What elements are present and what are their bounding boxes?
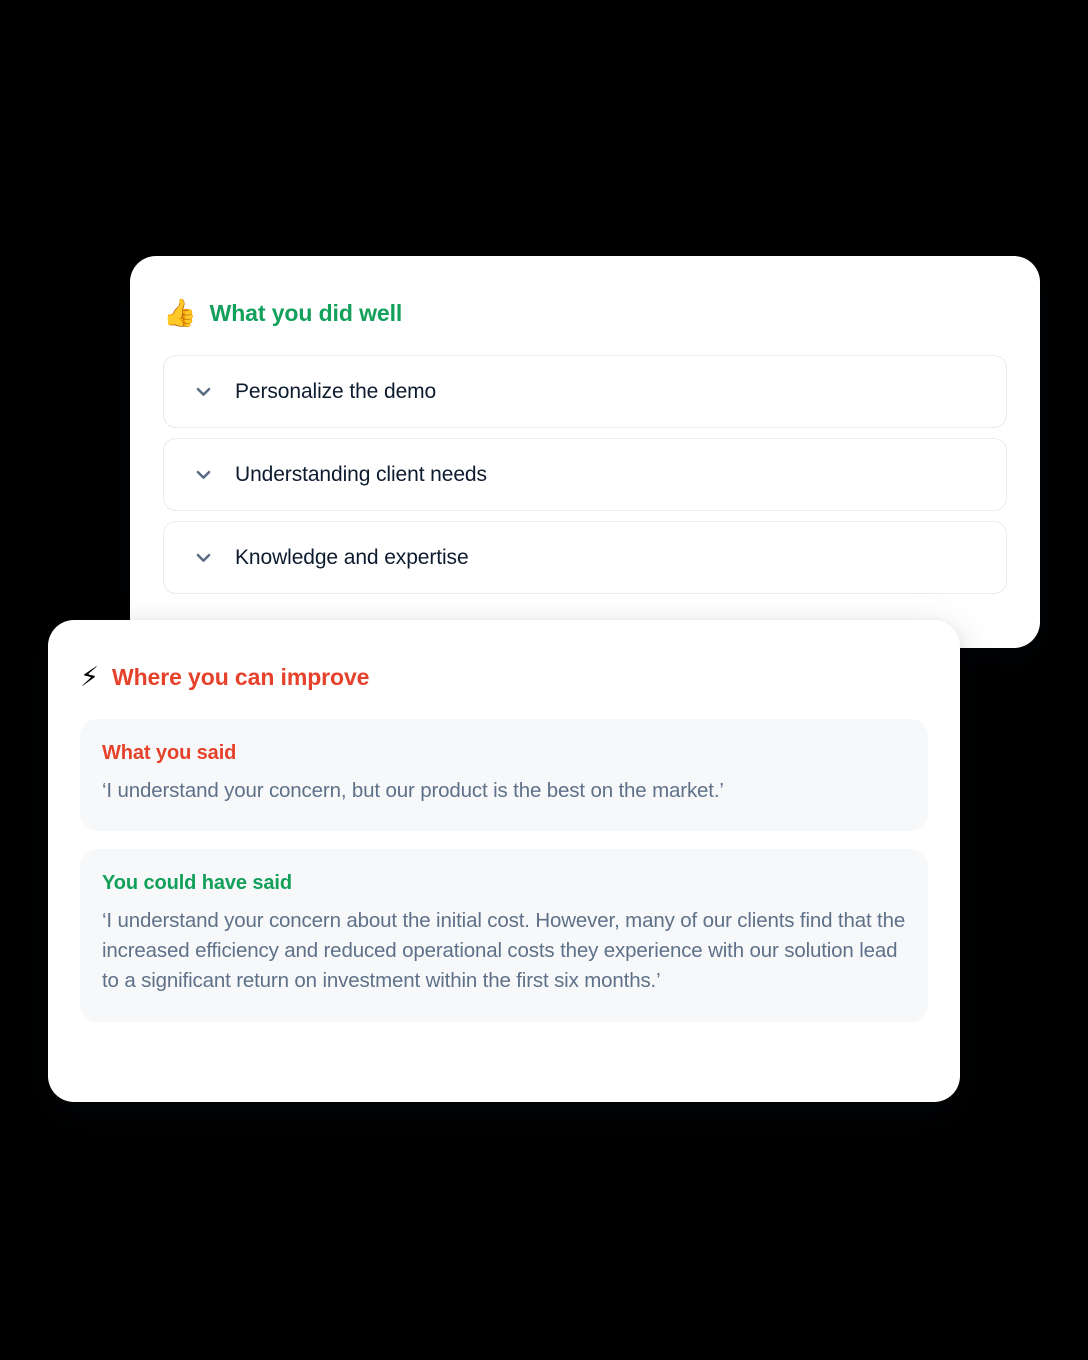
chevron-down-icon[interactable] <box>194 382 213 401</box>
accordion-item-label: Understanding client needs <box>235 463 487 487</box>
what-you-did-well-card: 👍 What you did well Personalize the demo <box>130 256 1040 648</box>
chevron-down-icon[interactable] <box>194 548 213 567</box>
what-you-said-panel: What you said ‘I understand your concern… <box>80 719 928 831</box>
you-could-have-said-panel: You could have said ‘I understand your c… <box>80 849 928 1021</box>
did-well-accordion: Personalize the demo Understanding clien… <box>163 355 1007 594</box>
accordion-item-label: Personalize the demo <box>235 380 436 404</box>
accordion-item-understanding-client-needs[interactable]: Understanding client needs <box>163 438 1007 511</box>
accordion-item-personalize-the-demo[interactable]: Personalize the demo <box>163 355 1007 428</box>
screenshot-stage: 👍 What you did well Personalize the demo <box>0 0 1088 1360</box>
what-you-said-title: What you said <box>102 742 906 765</box>
accordion-item-knowledge-and-expertise[interactable]: Knowledge and expertise <box>163 521 1007 594</box>
did-well-header: 👍 What you did well <box>163 300 1007 327</box>
thumbs-up-emoji: 👍 <box>163 300 197 327</box>
accordion-item-label: Knowledge and expertise <box>235 546 469 570</box>
lightning-bolt-emoji: ⚡ <box>80 664 99 691</box>
where-you-can-improve-card: ⚡ Where you can improve What you said ‘I… <box>48 620 960 1102</box>
chevron-down-icon[interactable] <box>194 465 213 484</box>
you-could-have-said-body: ‘I understand your concern about the ini… <box>102 906 906 996</box>
improve-header: ⚡ Where you can improve <box>80 664 928 691</box>
improve-title: Where you can improve <box>112 664 369 691</box>
you-could-have-said-title: You could have said <box>102 872 906 895</box>
did-well-title: What you did well <box>210 300 403 327</box>
what-you-said-body: ‘I understand your concern, but our prod… <box>102 776 906 806</box>
